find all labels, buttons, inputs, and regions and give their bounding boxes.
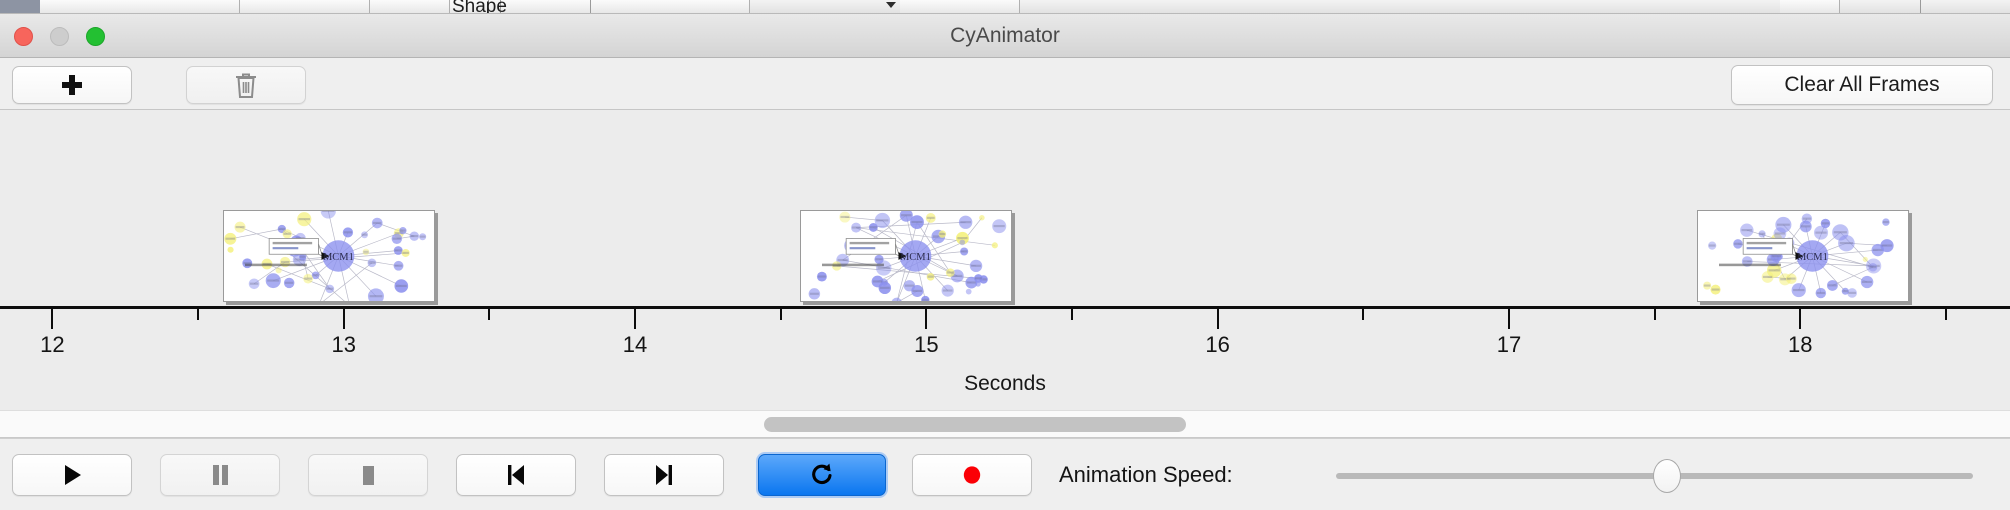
- axis-tick-minor: [488, 309, 490, 320]
- background-panel-segment: [900, 0, 1020, 14]
- timeline-axis-title: Seconds: [0, 372, 2010, 396]
- stop-icon: [355, 462, 381, 488]
- background-divider: [1920, 0, 1921, 14]
- cyanimator-window: Shape CyAnimator Clear All Frames Second…: [0, 0, 2010, 510]
- skip-end-button[interactable]: [604, 454, 724, 496]
- svg-text:MCM1: MCM1: [900, 252, 931, 263]
- skip-end-icon: [651, 462, 677, 488]
- svg-text:MCM1: MCM1: [1797, 252, 1828, 263]
- axis-tick-major: [1508, 309, 1510, 329]
- svg-text:MCM1: MCM1: [323, 252, 354, 263]
- delete-frame-button[interactable]: [186, 66, 306, 104]
- clear-all-frames-button[interactable]: Clear All Frames: [1731, 65, 1993, 105]
- axis-tick-minor: [1654, 309, 1656, 320]
- axis-tick-major: [51, 309, 53, 329]
- add-frame-button[interactable]: [12, 66, 132, 104]
- pause-icon: [207, 462, 233, 488]
- timeline-axis: [0, 306, 2010, 309]
- stop-button[interactable]: [308, 454, 428, 496]
- background-panel-segment: [370, 0, 450, 14]
- background-divider: [590, 0, 591, 14]
- axis-tick-major: [1217, 309, 1219, 329]
- axis-tick-minor: [1945, 309, 1947, 320]
- axis-tick-label: 15: [914, 332, 938, 358]
- play-button[interactable]: [12, 454, 132, 496]
- axis-tick-label: 16: [1205, 332, 1229, 358]
- timeline-scrollbar[interactable]: [0, 410, 2010, 438]
- background-window-strip: Shape: [0, 0, 2010, 14]
- animation-speed-slider-thumb[interactable]: [1653, 459, 1681, 493]
- axis-tick-label: 18: [1788, 332, 1812, 358]
- timeline-panel[interactable]: Seconds 12131415161718MCM1MCM1MCM1: [0, 110, 2010, 410]
- pause-button[interactable]: [160, 454, 280, 496]
- axis-tick-major: [925, 309, 927, 329]
- background-window-shape-label: Shape: [452, 0, 507, 14]
- axis-tick-major: [343, 309, 345, 329]
- axis-tick-minor: [780, 309, 782, 320]
- skip-start-button[interactable]: [456, 454, 576, 496]
- frame-thumbnail[interactable]: MCM1: [1697, 210, 1909, 302]
- axis-tick-label: 12: [40, 332, 64, 358]
- play-icon: [59, 462, 85, 488]
- plus-icon: [61, 74, 83, 96]
- axis-tick-minor: [1071, 309, 1073, 320]
- axis-tick-label: 17: [1497, 332, 1521, 358]
- axis-tick-minor: [197, 309, 199, 320]
- frame-thumbnail[interactable]: MCM1: [223, 210, 435, 302]
- animation-speed-label: Animation Speed:: [1059, 454, 1233, 496]
- background-window-titlebar-fragment: [0, 0, 40, 14]
- loop-icon: [808, 461, 836, 489]
- chevron-down-icon: [886, 2, 896, 8]
- window-title: CyAnimator: [0, 14, 2010, 58]
- axis-tick-major: [1799, 309, 1801, 329]
- animation-speed-slider[interactable]: [1336, 473, 1973, 479]
- background-panel-segment: [240, 0, 370, 14]
- toolbar: Clear All Frames: [0, 58, 2010, 110]
- title-bar: CyAnimator: [0, 14, 2010, 58]
- background-panel-segment: [40, 0, 240, 14]
- trash-icon: [234, 72, 258, 99]
- skip-start-icon: [503, 462, 529, 488]
- timeline-scrollbar-thumb[interactable]: [764, 417, 1186, 432]
- axis-tick-label: 14: [623, 332, 647, 358]
- record-icon: [959, 462, 985, 488]
- playback-control-bar: Animation Speed:: [0, 438, 2010, 510]
- axis-tick-minor: [1362, 309, 1364, 320]
- background-panel-segment: [1780, 0, 1840, 14]
- axis-tick-label: 13: [331, 332, 355, 358]
- frame-thumbnail[interactable]: MCM1: [800, 210, 1012, 302]
- loop-button[interactable]: [758, 454, 886, 496]
- axis-tick-major: [634, 309, 636, 329]
- record-button[interactable]: [912, 454, 1032, 496]
